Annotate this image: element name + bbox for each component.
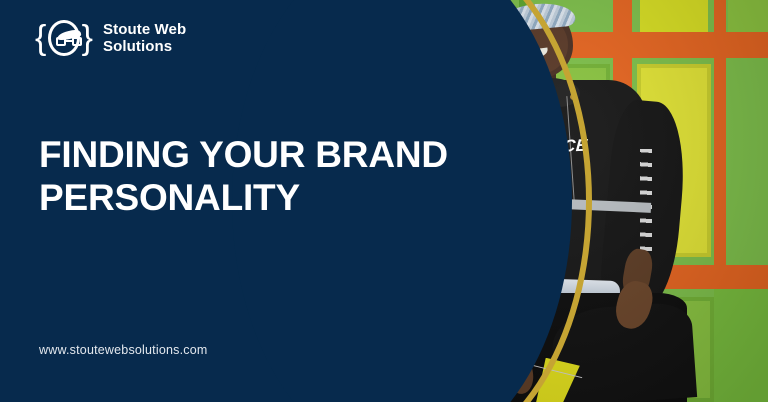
- glasses-icon: [56, 37, 82, 46]
- website-url[interactable]: www.stoutewebsolutions.com: [39, 343, 207, 357]
- brand-logo-text: Stoute Web Solutions: [103, 21, 186, 56]
- brand-logo[interactable]: { } Stoute Web Solutions: [35, 16, 186, 60]
- brand-logo-line1: Stoute Web: [103, 21, 186, 38]
- blog-header-banner: PALACE {: [0, 0, 768, 402]
- glasses-mustache-circle-logo-icon: { }: [35, 16, 93, 60]
- logo-circle-icon: [48, 20, 79, 56]
- brace-right-icon: }: [82, 21, 93, 55]
- brand-logo-line2: Solutions: [103, 38, 186, 55]
- page-title: Finding Your Brand Personality: [39, 134, 469, 220]
- brace-left-icon: {: [35, 21, 46, 55]
